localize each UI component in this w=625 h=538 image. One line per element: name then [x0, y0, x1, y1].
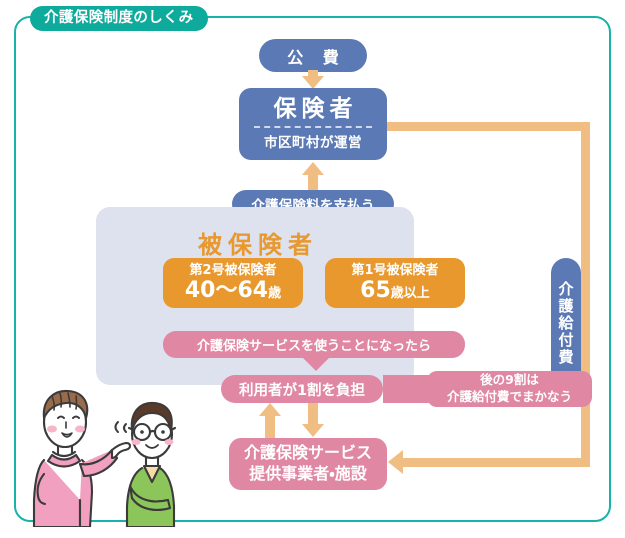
connector-provider-up-stem — [265, 415, 275, 439]
insured-heading: 被保険者 — [96, 225, 414, 260]
connector-premium-arrowhead — [302, 162, 324, 175]
insurer-divider — [254, 126, 372, 128]
remaining-share-note: 後の9割は 介護給付費でまかなう — [427, 371, 592, 407]
man-with-glasses-figure — [116, 403, 176, 527]
connector-provider-down-arrowhead — [302, 424, 324, 437]
service-provider-box: 介護保険サービス 提供事業者・施設 — [229, 438, 387, 490]
connector-bottom-to-provider — [403, 458, 590, 467]
provider-line-2: 提供事業者・施設 — [249, 464, 366, 485]
connector-arrowhead-provider — [388, 450, 403, 474]
diagram-title: 介護保険制度のしくみ — [30, 6, 208, 31]
connector-right-vertical — [581, 122, 590, 458]
connector-premium-stem — [308, 175, 318, 190]
insurer-box: 保険者 市区町村が運営 — [239, 88, 387, 160]
insurer-title: 保険者 — [269, 97, 358, 121]
when-using-service-box: 介護保険サービスを使うことになったら — [163, 331, 465, 358]
connector-provider-up-arrowhead — [259, 403, 281, 416]
provider-line-1: 介護保険サービス — [244, 443, 372, 464]
insured-category-2-name: 第2号被保険者 — [189, 264, 276, 278]
when-using-pointer — [302, 357, 330, 371]
insurer-subtitle: 市区町村が運営 — [264, 131, 362, 151]
note-line-2: 介護給付費でまかなう — [447, 389, 572, 406]
connector-insurer-to-right — [387, 122, 590, 131]
insured-category-1: 第1号被保険者 65歳以上 — [325, 258, 465, 308]
insured-category-1-age: 65歳以上 — [360, 279, 430, 302]
public-funds-box: 公 費 — [259, 39, 367, 72]
insured-category-2-age: 40〜64歳 — [185, 279, 281, 302]
benefit-cost-label: 介護給付費 — [551, 258, 581, 388]
note-line-1: 後の9割は — [480, 372, 539, 389]
diagram-canvas: 介護保険制度のしくみ 介護給付費 公 費 保険者 市区町村が運営 介護保険料を支… — [0, 0, 625, 538]
user-burden-box: 利用者が1割を負担 — [221, 375, 383, 403]
dotted-link-base — [383, 375, 431, 403]
people-illustration — [22, 382, 212, 527]
insured-category-2: 第2号被保険者 40〜64歳 — [163, 258, 303, 308]
woman-pointing-figure — [34, 391, 130, 527]
insured-category-1-name: 第1号被保険者 — [351, 264, 438, 278]
connector-provider-down-stem — [308, 403, 318, 425]
